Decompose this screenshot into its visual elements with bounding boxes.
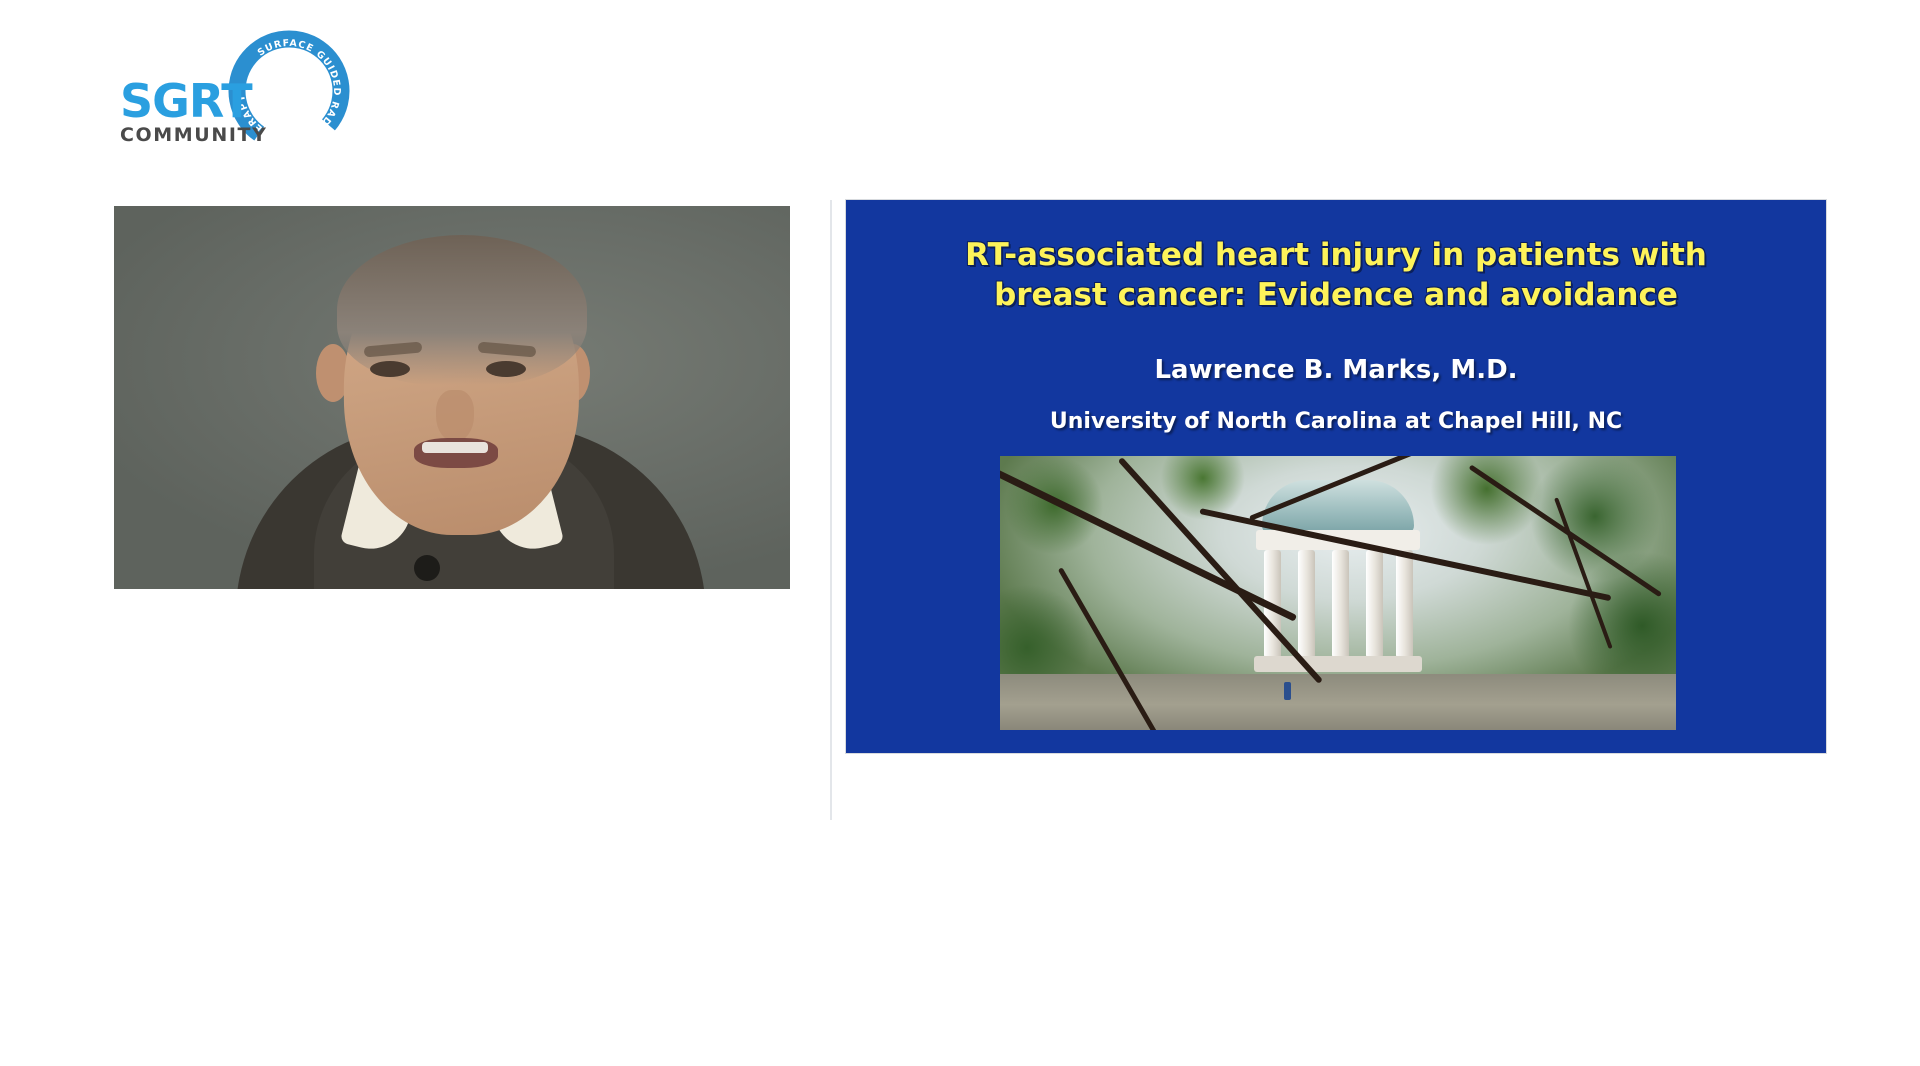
tree-branch [1554, 497, 1612, 649]
slide-title: RT-associated heart injury in patients w… [900, 236, 1772, 315]
slide-title-line-2: breast cancer: Evidence and avoidance [994, 277, 1678, 313]
campus-photo [1000, 456, 1676, 730]
presentation-slide[interactable]: RT-associated heart injury in patients w… [846, 200, 1826, 753]
pane-divider [830, 200, 832, 820]
tree-branch [1058, 567, 1182, 730]
sgrt-logo-subtext: COMMUNITY [120, 126, 270, 145]
lapel-microphone-icon [414, 555, 440, 581]
slide-author: Lawrence B. Marks, M.D. [846, 355, 1826, 385]
slide-title-line-1: RT-associated heart injury in patients w… [965, 237, 1707, 273]
speaker-teeth [422, 442, 488, 453]
photo-tree-branches [1000, 456, 1676, 730]
webinar-stage: SURFACE GUIDED RADIATION THERAPY SGRT CO… [0, 0, 1920, 1066]
speaker-eye-right [486, 361, 526, 377]
speaker-eye-left [370, 361, 410, 377]
sgrt-logo-wordmark: SGRT COMMUNITY [120, 78, 270, 145]
tree-branch [1118, 457, 1323, 684]
speaker-hair [337, 235, 587, 385]
sgrt-community-logo: SURFACE GUIDED RADIATION THERAPY SGRT CO… [120, 30, 350, 160]
speaker-video-pane[interactable] [114, 206, 790, 589]
slide-affiliation: University of North Carolina at Chapel H… [846, 409, 1826, 434]
speaker-nose [436, 390, 474, 442]
sgrt-logo-text: SGRT [120, 78, 270, 124]
